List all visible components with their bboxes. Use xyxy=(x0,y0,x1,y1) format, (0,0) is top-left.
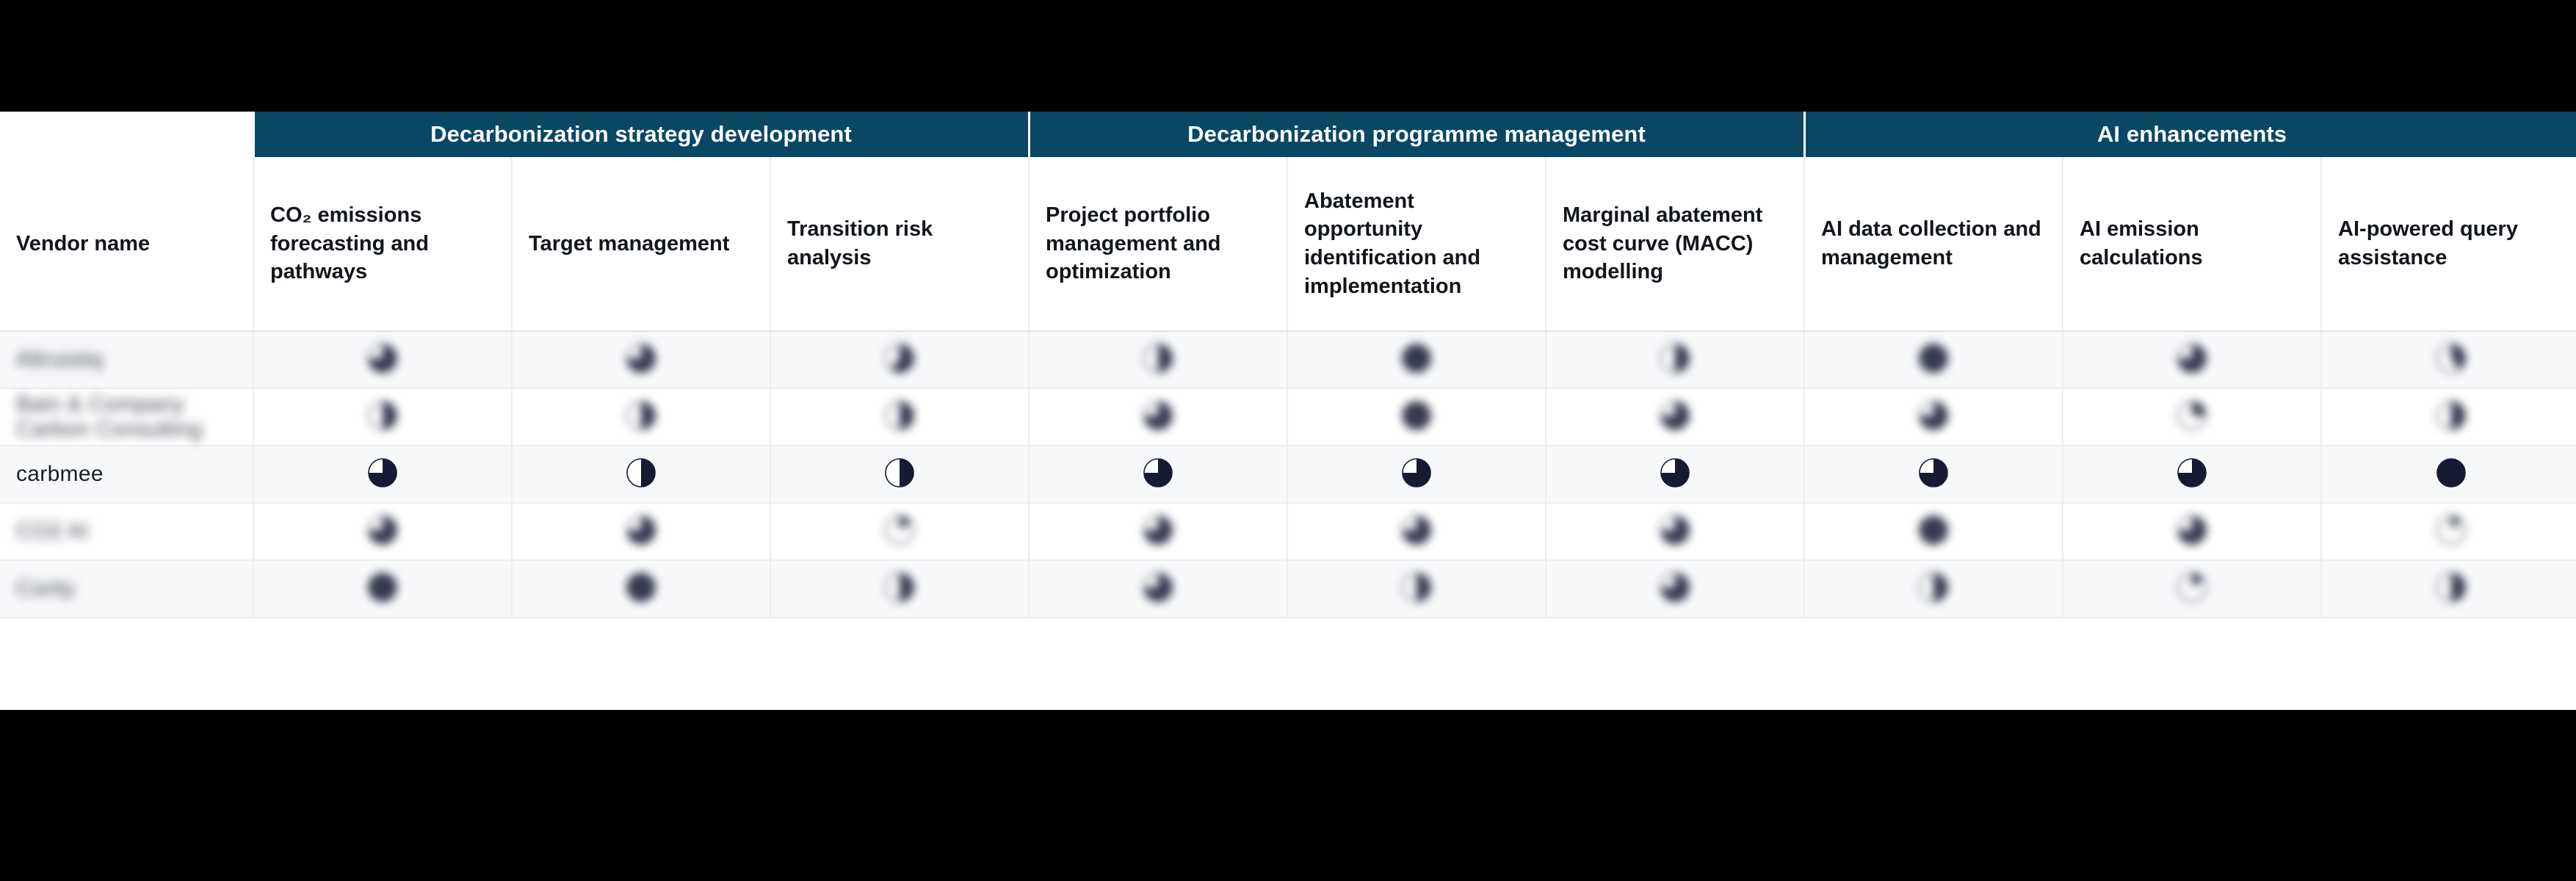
harvey-ball-icon xyxy=(1659,342,1691,374)
harvey-ball-icon xyxy=(883,457,916,489)
score-cell xyxy=(1287,560,1546,617)
harvey-ball-icon xyxy=(366,457,399,489)
score-cell xyxy=(253,331,512,388)
score-cell xyxy=(2063,446,2321,503)
column-header-label: Marginal abatement cost curve (MACC) mod… xyxy=(1563,203,1762,283)
harvey-ball-icon xyxy=(1400,514,1433,546)
band-row-gap xyxy=(0,112,253,157)
score-cell xyxy=(1804,446,2063,503)
harvey-ball-icon xyxy=(366,571,399,603)
score-cell xyxy=(1287,503,1546,560)
score-cell xyxy=(1546,560,1804,617)
column-header-label: AI emission calculations xyxy=(2080,217,2203,269)
score-cell xyxy=(1804,503,2063,560)
score-cell xyxy=(253,503,512,560)
harvey-ball-icon xyxy=(2435,399,2467,432)
column-header-1: CO₂ emissions forecasting and pathways xyxy=(253,157,512,331)
harvey-ball-icon xyxy=(2176,514,2208,546)
score-cell xyxy=(512,331,770,388)
harvey-ball-icon xyxy=(1142,399,1174,432)
column-header-label: CO₂ emissions forecasting and pathways xyxy=(270,203,429,283)
harvey-ball-icon xyxy=(1917,399,1950,432)
score-cell xyxy=(1287,331,1546,388)
score-cell xyxy=(1804,560,2063,617)
score-cell xyxy=(2321,446,2576,503)
column-header-vendor-name: Vendor name xyxy=(0,157,253,331)
score-cell xyxy=(253,388,512,446)
score-cell xyxy=(2063,331,2321,388)
column-header-label: AI data collection and management xyxy=(1821,217,2041,269)
harvey-ball-icon xyxy=(1659,457,1691,489)
table-row[interactable]: Altruistiq xyxy=(0,331,2576,388)
column-header-label: Target management xyxy=(529,232,729,255)
table-row[interactable]: Bain & Company Carbon Consulting xyxy=(0,388,2576,446)
harvey-ball-icon xyxy=(1142,514,1174,546)
harvey-ball-icon xyxy=(2176,571,2208,603)
score-cell xyxy=(1029,503,1287,560)
score-cell xyxy=(1804,388,2063,446)
table-row[interactable]: CO2 AI xyxy=(0,503,2576,560)
score-cell xyxy=(2063,560,2321,617)
column-header-9: AI-powered query assistance xyxy=(2321,157,2576,331)
harvey-ball-icon xyxy=(1142,457,1174,489)
table-row[interactable]: Cority xyxy=(0,560,2576,617)
score-cell xyxy=(770,503,1029,560)
vendor-name-cell: carbmee xyxy=(0,446,253,503)
score-cell xyxy=(512,560,770,617)
column-header-label: AI-powered query assistance xyxy=(2338,217,2518,269)
vendor-name-cell: CO2 AI xyxy=(0,503,253,560)
score-cell xyxy=(2321,560,2576,617)
group-band-label: Decarbonization programme management xyxy=(1187,121,1646,147)
vendor-capability-matrix: Decarbonization strategy developmentDeca… xyxy=(0,112,2576,618)
harvey-ball-icon xyxy=(2435,342,2467,374)
vendor-name-label: Altruistiq xyxy=(16,347,103,372)
score-cell xyxy=(1287,446,1546,503)
column-header-label: Transition risk analysis xyxy=(787,217,933,269)
harvey-ball-icon xyxy=(1142,571,1174,603)
harvey-ball-icon xyxy=(625,457,657,489)
harvey-ball-icon xyxy=(1659,571,1691,603)
harvey-ball-icon xyxy=(1917,571,1950,603)
harvey-ball-icon xyxy=(2435,571,2467,603)
column-header-row: Vendor nameCO₂ emissions forecasting and… xyxy=(0,157,2576,331)
score-cell xyxy=(512,503,770,560)
score-cell xyxy=(770,446,1029,503)
group-band-label: Decarbonization strategy development xyxy=(430,121,852,147)
harvey-ball-icon xyxy=(366,342,399,374)
matrix-body: AltruistiqBain & Company Carbon Consulti… xyxy=(0,331,2576,617)
group-band-1: Decarbonization strategy development xyxy=(253,112,1029,157)
score-cell xyxy=(770,560,1029,617)
harvey-ball-icon xyxy=(625,514,657,546)
column-header-label: Abatement opportunity identification and… xyxy=(1304,189,1480,298)
harvey-ball-icon xyxy=(1917,514,1950,546)
vendor-name-cell: Cority xyxy=(0,560,253,617)
score-cell xyxy=(253,446,512,503)
score-cell xyxy=(512,446,770,503)
vendor-name-label: carbmee xyxy=(16,462,104,486)
score-cell xyxy=(1546,331,1804,388)
score-cell xyxy=(770,388,1029,446)
score-cell xyxy=(1287,388,1546,446)
harvey-ball-icon xyxy=(1400,399,1433,432)
harvey-ball-icon xyxy=(2435,457,2467,489)
score-cell xyxy=(1546,503,1804,560)
score-cell xyxy=(2321,331,2576,388)
harvey-ball-icon xyxy=(2435,514,2467,546)
harvey-ball-icon xyxy=(1659,514,1691,546)
harvey-ball-icon xyxy=(625,571,657,603)
group-band-3: AI enhancements xyxy=(1804,112,2576,157)
column-header-label: Vendor name xyxy=(16,232,150,255)
column-header-7: AI data collection and management xyxy=(1804,157,2063,331)
harvey-ball-icon xyxy=(366,514,399,546)
score-cell xyxy=(1029,331,1287,388)
vendor-name-label: CO2 AI xyxy=(16,519,89,544)
score-cell xyxy=(770,331,1029,388)
harvey-ball-icon xyxy=(1659,399,1691,432)
score-cell xyxy=(1804,331,2063,388)
group-band-2: Decarbonization programme management xyxy=(1029,112,1804,157)
score-cell xyxy=(253,560,512,617)
score-cell xyxy=(512,388,770,446)
harvey-ball-icon xyxy=(883,514,916,546)
score-cell xyxy=(2321,503,2576,560)
harvey-ball-icon xyxy=(1142,342,1174,374)
harvey-ball-icon xyxy=(883,342,916,374)
harvey-ball-icon xyxy=(625,342,657,374)
column-header-6: Marginal abatement cost curve (MACC) mod… xyxy=(1546,157,1804,331)
column-header-8: AI emission calculations xyxy=(2063,157,2321,331)
harvey-ball-icon xyxy=(1917,457,1950,489)
score-cell xyxy=(2321,388,2576,446)
harvey-ball-icon xyxy=(2176,342,2208,374)
harvey-ball-icon xyxy=(1917,342,1950,374)
column-header-3: Transition risk analysis xyxy=(770,157,1029,331)
vendor-name-label: Cority xyxy=(16,576,75,601)
table-row[interactable]: carbmee xyxy=(0,446,2576,503)
score-cell xyxy=(1029,388,1287,446)
group-band-label: AI enhancements xyxy=(2097,121,2287,147)
slide-canvas: Decarbonization strategy developmentDeca… xyxy=(0,112,2576,710)
harvey-ball-icon xyxy=(883,571,916,603)
column-header-label: Project portfolio management and optimiz… xyxy=(1046,203,1221,283)
group-band-row: Decarbonization strategy developmentDeca… xyxy=(0,112,2576,157)
harvey-ball-icon xyxy=(2176,399,2208,432)
vendor-name-label: Bain & Company Carbon Consulting xyxy=(16,392,253,442)
score-cell xyxy=(1546,446,1804,503)
vendor-name-cell: Bain & Company Carbon Consulting xyxy=(0,388,253,446)
score-cell xyxy=(2063,503,2321,560)
score-cell xyxy=(2063,388,2321,446)
harvey-ball-icon xyxy=(883,399,916,432)
column-header-5: Abatement opportunity identification and… xyxy=(1287,157,1546,331)
vendor-name-cell: Altruistiq xyxy=(0,331,253,388)
harvey-ball-icon xyxy=(2176,457,2208,489)
harvey-ball-icon xyxy=(1400,457,1433,489)
column-header-2: Target management xyxy=(512,157,770,331)
score-cell xyxy=(1546,388,1804,446)
column-header-4: Project portfolio management and optimiz… xyxy=(1029,157,1287,331)
harvey-ball-icon xyxy=(1400,342,1433,374)
harvey-ball-icon xyxy=(1400,571,1433,603)
harvey-ball-icon xyxy=(625,399,657,432)
harvey-ball-icon xyxy=(366,399,399,432)
score-cell xyxy=(1029,560,1287,617)
score-cell xyxy=(1029,446,1287,503)
letterbox-stage: Decarbonization strategy developmentDeca… xyxy=(0,0,2576,881)
